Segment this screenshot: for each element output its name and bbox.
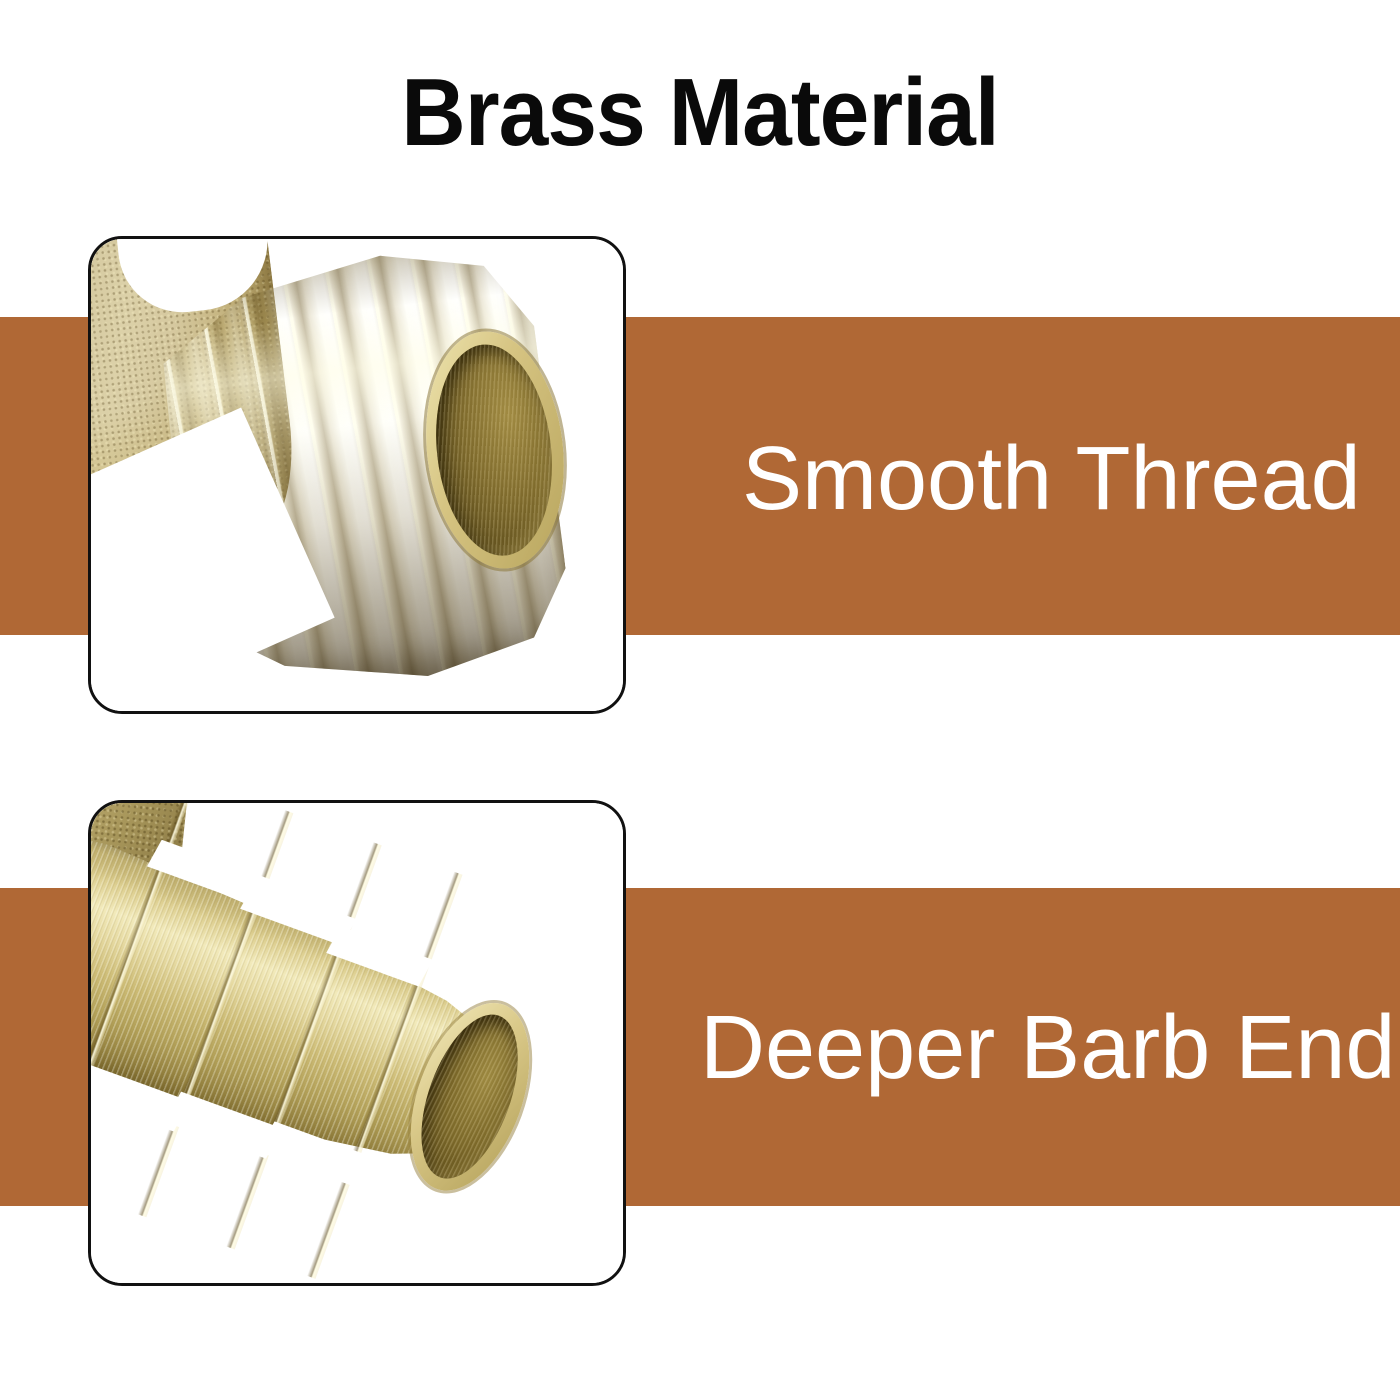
- thread-bore-opening: [425, 338, 562, 562]
- feature-label-deeper-barb-end: Deeper Barb End: [700, 1003, 1395, 1093]
- hose-barb-photo-card: [88, 800, 626, 1286]
- hose-barb-photo: [91, 803, 623, 1283]
- product-infographic: Brass Material Smooth Thread: [0, 0, 1400, 1400]
- feature-label-smooth-thread: Smooth Thread: [742, 434, 1361, 524]
- barb-assembly: [91, 803, 618, 1283]
- page-title: Brass Material: [49, 58, 1351, 168]
- threaded-nipple-photo: [91, 239, 623, 711]
- threaded-nipple-photo-card: [88, 236, 626, 714]
